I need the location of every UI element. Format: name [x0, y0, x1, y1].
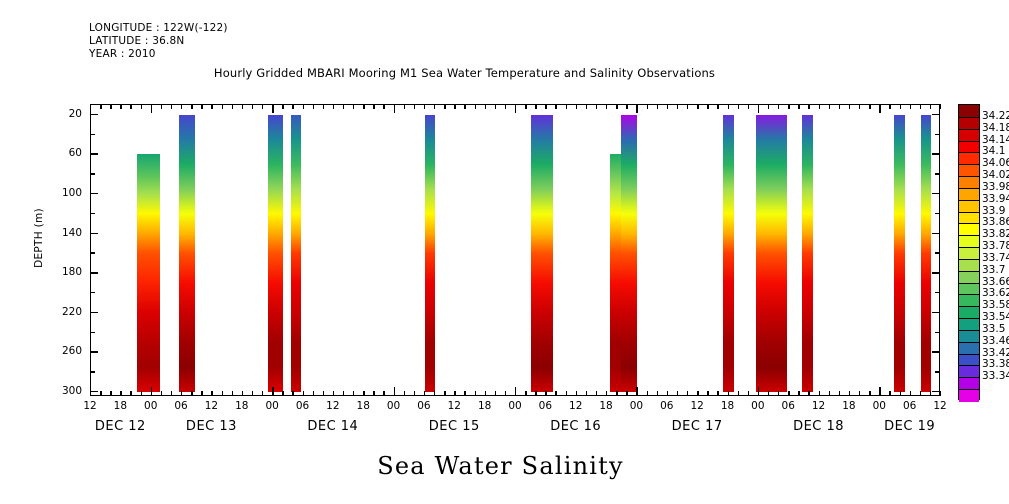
- x-axis-hour-label: 00: [751, 400, 764, 412]
- colorbar-separator: [959, 129, 979, 130]
- year-text: YEAR : 2010: [89, 48, 228, 61]
- x-axis-day-label: DEC 19: [884, 419, 935, 434]
- colorbar-band: [959, 271, 979, 283]
- colorbar-tick-label: 33.9: [982, 205, 1005, 217]
- latitude-text: LATITUDE : 36.8N: [89, 35, 228, 48]
- x-axis-day-label: DEC 15: [429, 419, 480, 434]
- colorbar-tick-label: 34.06: [982, 157, 1009, 169]
- x-axis-hour-label: 06: [903, 400, 916, 412]
- x-axis-hour-label: 06: [539, 400, 552, 412]
- colorbar-band: [959, 259, 979, 271]
- page-title: Hourly Gridded MBARI Mooring M1 Sea Wate…: [0, 66, 969, 80]
- x-axis-hour-label: 18: [357, 400, 370, 412]
- colorbar-band: [959, 152, 979, 164]
- colorbar-band: [959, 377, 979, 389]
- colorbar-gradient: [958, 104, 980, 400]
- colorbar-tick-label: 33.94: [982, 193, 1009, 205]
- colorbar-separator: [959, 247, 979, 248]
- x-axis-day-label: DEC 12: [95, 419, 146, 434]
- colorbar-band: [959, 389, 979, 401]
- x-axis-hour-label: 00: [144, 400, 157, 412]
- x-axis-hour-label: 00: [630, 400, 643, 412]
- colorbar-separator: [959, 377, 979, 378]
- colorbar-separator: [959, 235, 979, 236]
- colorbar-tick-label: 33.54: [982, 311, 1009, 323]
- colorbar-separator: [959, 342, 979, 343]
- salinity-profile-column: [610, 154, 621, 392]
- x-axis-day-labels: DEC 12DEC 13DEC 14DEC 15DEC 16DEC 17DEC …: [90, 419, 940, 441]
- x-axis-hour-label: 18: [599, 400, 612, 412]
- colorbar-tick-label: 33.78: [982, 240, 1009, 252]
- x-axis-hour-label: 12: [569, 400, 582, 412]
- colorbar-tick-label: 34.1: [982, 145, 1005, 157]
- colorbar-band: [959, 105, 979, 117]
- colorbar-tick-label: 33.46: [982, 335, 1009, 347]
- colorbar-tick-label: 34.18: [982, 122, 1009, 134]
- colorbar-band: [959, 188, 979, 200]
- colorbar-separator: [959, 365, 979, 366]
- salinity-profile-column: [425, 115, 435, 392]
- longitude-text: LONGITUDE : 122W(-122): [89, 22, 228, 35]
- colorbar-band: [959, 129, 979, 141]
- colorbar-separator: [959, 330, 979, 331]
- colorbar-band: [959, 141, 979, 153]
- colorbar-separator: [959, 283, 979, 284]
- colorbar-separator: [959, 271, 979, 272]
- colorbar-tick-label: 33.82: [982, 228, 1009, 240]
- colorbar-band: [959, 354, 979, 366]
- colorbar-tick-label: 34.02: [982, 169, 1009, 181]
- colorbar-band: [959, 164, 979, 176]
- x-axis-hour-label: 12: [205, 400, 218, 412]
- station-metadata: LONGITUDE : 122W(-122) LATITUDE : 36.8N …: [89, 22, 228, 62]
- colorbar-separator: [959, 354, 979, 355]
- colorbar-tick-label: 33.62: [982, 287, 1009, 299]
- x-axis-hour-label: 18: [114, 400, 127, 412]
- y-axis-tick-label: 140: [62, 227, 82, 239]
- x-axis-hour-label: 00: [387, 400, 400, 412]
- colorbar-tick-label: 33.86: [982, 216, 1009, 228]
- x-axis-hour-labels: 1218000612180006121800061218000612180006…: [90, 400, 940, 416]
- colorbar-tick-label: 33.5: [982, 323, 1005, 335]
- x-axis-hour-label: 06: [782, 400, 795, 412]
- x-minor-tick: [940, 391, 941, 396]
- y-axis-tick-label: 180: [62, 266, 82, 278]
- colorbar-band: [959, 117, 979, 129]
- y-axis-tick-label: 20: [69, 108, 82, 120]
- salinity-profile-column: [291, 115, 301, 392]
- colorbar-separator: [959, 212, 979, 213]
- salinity-profile-column: [621, 115, 637, 392]
- colorbar-separator: [959, 152, 979, 153]
- y-axis-tick-label: 220: [62, 306, 82, 318]
- x-axis-hour-label: 12: [690, 400, 703, 412]
- x-axis-hour-label: 18: [235, 400, 248, 412]
- salinity-profile-column: [268, 115, 283, 392]
- colorbar-band: [959, 200, 979, 212]
- colorbar-separator: [959, 306, 979, 307]
- colorbar-tick-label: 33.66: [982, 276, 1009, 288]
- x-axis-hour-label: 00: [508, 400, 521, 412]
- x-axis-hour-label: 06: [660, 400, 673, 412]
- salinity-profile-column: [921, 115, 931, 392]
- colorbar-separator: [959, 164, 979, 165]
- colorbar-tick-label: 33.38: [982, 358, 1009, 370]
- colorbar-separator: [959, 200, 979, 201]
- colorbar-tick-label: 33.74: [982, 252, 1009, 264]
- x-axis-day-label: DEC 14: [307, 419, 358, 434]
- colorbar-band: [959, 283, 979, 295]
- x-axis-hour-label: 18: [721, 400, 734, 412]
- colorbar-tick-label: 34.14: [982, 134, 1009, 146]
- colorbar-separator: [959, 176, 979, 177]
- salinity-profile-column: [894, 115, 904, 392]
- salinity-profile-column: [137, 154, 160, 392]
- x-axis-hour-label: 06: [296, 400, 309, 412]
- x-axis-hour-label: 12: [83, 400, 96, 412]
- colorbar-separator: [959, 259, 979, 260]
- colorbar-tick-label: 33.98: [982, 181, 1009, 193]
- colorbar-tick-label: 33.42: [982, 347, 1009, 359]
- salinity-profile-column: [756, 115, 786, 392]
- variable-label: Sea Water Salinity: [0, 452, 1005, 480]
- plot-area: [90, 104, 940, 396]
- x-axis-day-label: DEC 17: [672, 419, 723, 434]
- colorbar-band: [959, 212, 979, 224]
- x-axis-hour-label: 12: [448, 400, 461, 412]
- colorbar-separator: [959, 389, 979, 390]
- colorbar-band: [959, 342, 979, 354]
- y-axis-tick-label: 260: [62, 345, 82, 357]
- x-axis-hour-label: 06: [417, 400, 430, 412]
- colorbar-band: [959, 330, 979, 342]
- salinity-profile-column: [723, 115, 733, 392]
- x-axis-hour-label: 00: [873, 400, 886, 412]
- salinity-section-canvas: [91, 105, 939, 395]
- x-minor-tick: [940, 104, 941, 109]
- colorbar: 34.2234.1834.1434.134.0634.0233.9833.943…: [958, 104, 980, 400]
- colorbar-band: [959, 306, 979, 318]
- colorbar-tick-label: 33.58: [982, 299, 1009, 311]
- x-axis-hour-label: 00: [265, 400, 278, 412]
- x-axis-hour-label: 06: [174, 400, 187, 412]
- colorbar-band: [959, 223, 979, 235]
- salinity-profile-column: [531, 115, 553, 392]
- x-axis-hour-label: 12: [326, 400, 339, 412]
- salinity-profile-column: [802, 115, 813, 392]
- colorbar-tick-labels: 34.2234.1834.1434.134.0634.0233.9833.943…: [982, 104, 1009, 400]
- y-axis-tick-label: 60: [69, 147, 82, 159]
- x-axis-day-label: DEC 16: [550, 419, 601, 434]
- colorbar-separator: [959, 117, 979, 118]
- colorbar-separator: [959, 294, 979, 295]
- colorbar-band: [959, 176, 979, 188]
- colorbar-separator: [959, 188, 979, 189]
- x-axis-day-label: DEC 18: [793, 419, 844, 434]
- colorbar-band: [959, 235, 979, 247]
- colorbar-band: [959, 365, 979, 377]
- colorbar-separator: [959, 223, 979, 224]
- salinity-profile-column: [179, 115, 195, 392]
- colorbar-band: [959, 247, 979, 259]
- x-axis-hour-label: 12: [933, 400, 946, 412]
- y-axis-tick-label: 300: [62, 385, 82, 397]
- colorbar-separator: [959, 318, 979, 319]
- y-axis-tick-label: 100: [62, 187, 82, 199]
- x-axis-hour-label: 18: [478, 400, 491, 412]
- colorbar-tick-label: 33.34: [982, 370, 1009, 382]
- colorbar-band: [959, 318, 979, 330]
- colorbar-band: [959, 294, 979, 306]
- y-axis-labels: 2060100140180220260300: [26, 104, 82, 396]
- x-axis-hour-label: 12: [812, 400, 825, 412]
- colorbar-separator: [959, 141, 979, 142]
- x-axis-hour-label: 18: [842, 400, 855, 412]
- colorbar-tick-label: 33.7: [982, 264, 1005, 276]
- colorbar-tick-label: 34.22: [982, 110, 1009, 122]
- x-axis-day-label: DEC 13: [186, 419, 237, 434]
